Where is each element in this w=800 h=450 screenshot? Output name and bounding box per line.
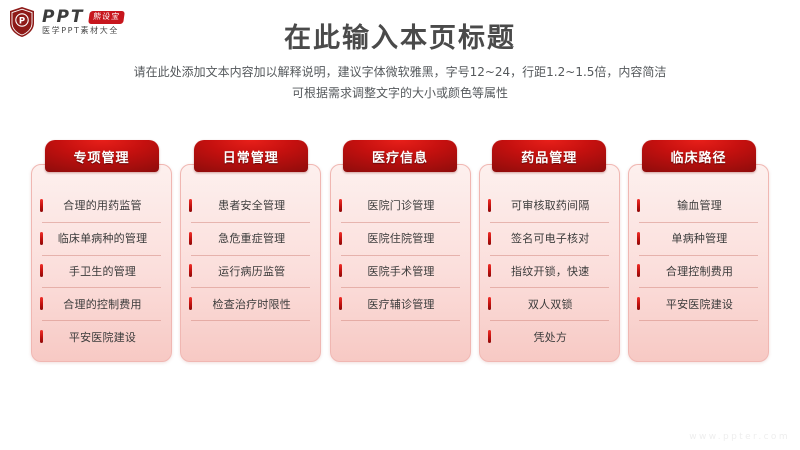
list-item[interactable]: 合理的控制费用 xyxy=(38,287,165,320)
bullet-icon xyxy=(488,330,491,343)
card-body: 医院门诊管理 医院住院管理 医院手术管理 医疗辅诊管理 xyxy=(330,164,471,362)
card-body: 输血管理 单病种管理 合理控制费用 平安医院建设 xyxy=(628,164,769,362)
list-item-label: 双人双锁 xyxy=(497,296,604,312)
list-item[interactable]: 检查治疗时限性 xyxy=(187,287,314,320)
list-item[interactable]: 急危重症管理 xyxy=(187,222,314,255)
card-body: 合理的用药监管 临床单病种的管理 手卫生的管理 合理的控制费用 平安医院建设 xyxy=(31,164,172,362)
list-item-label: 手卫生的管理 xyxy=(49,263,156,279)
card-linchuang-lujing[interactable]: 临床路径 输血管理 单病种管理 合理控制费用 平安医院建设 xyxy=(627,140,770,362)
card-body: 可审核取药间隔 签名可电子核对 指纹开锁，快速 双人双锁 凭处方 xyxy=(479,164,620,362)
list-item-label: 医院手术管理 xyxy=(348,263,455,279)
bullet-icon xyxy=(488,232,491,245)
list-item-label: 合理控制费用 xyxy=(646,263,753,279)
list-item-label: 医院门诊管理 xyxy=(348,197,455,213)
list-item-empty xyxy=(187,320,314,353)
bullet-icon xyxy=(488,264,491,277)
bullet-icon xyxy=(339,199,342,212)
list-item-label: 患者安全管理 xyxy=(198,197,305,213)
list-item[interactable]: 手卫生的管理 xyxy=(38,255,165,288)
bullet-icon xyxy=(40,330,43,343)
subtitle-line-1: 请在此处添加文本内容加以解释说明，建议字体微软雅黑，字号12~24，行距1.2~… xyxy=(0,62,800,83)
list-item[interactable]: 医疗辅诊管理 xyxy=(337,287,464,320)
list-item[interactable]: 双人双锁 xyxy=(486,287,613,320)
bullet-icon xyxy=(40,297,43,310)
bullet-icon xyxy=(339,232,342,245)
list-item-label: 合理的用药监管 xyxy=(49,197,156,213)
list-item-label: 签名可电子核对 xyxy=(497,230,604,246)
list-item-label: 急危重症管理 xyxy=(198,230,305,246)
bullet-icon xyxy=(40,199,43,212)
subtitle-line-2: 可根据需求调整文字的大小或颜色等属性 xyxy=(0,83,800,104)
bullet-icon xyxy=(189,199,192,212)
site-watermark: www.ppter.com xyxy=(689,432,790,442)
bullet-icon xyxy=(637,199,640,212)
list-item[interactable]: 平安医院建设 xyxy=(635,287,762,320)
card-zhuanxiang-guanli[interactable]: 专项管理 合理的用药监管 临床单病种的管理 手卫生的管理 合理的控制费用 平安医… xyxy=(30,140,173,362)
list-item[interactable]: 合理控制费用 xyxy=(635,255,762,288)
bullet-icon xyxy=(637,264,640,277)
bullet-icon xyxy=(339,297,342,310)
card-header[interactable]: 专项管理 xyxy=(45,140,159,172)
bullet-icon xyxy=(488,297,491,310)
card-yiliao-xinxi[interactable]: 医疗信息 医院门诊管理 医院住院管理 医院手术管理 医疗辅诊管理 xyxy=(329,140,472,362)
list-item[interactable]: 患者安全管理 xyxy=(187,189,314,222)
bullet-icon xyxy=(637,297,640,310)
card-yaopin-guanli[interactable]: 药品管理 可审核取药间隔 签名可电子核对 指纹开锁，快速 双人双锁 凭处方 xyxy=(478,140,621,362)
list-item-label: 单病种管理 xyxy=(646,230,753,246)
bullet-icon xyxy=(189,297,192,310)
page-subtitle: 请在此处添加文本内容加以解释说明，建议字体微软雅黑，字号12~24，行距1.2~… xyxy=(0,62,800,104)
list-item-label: 运行病历监管 xyxy=(198,263,305,279)
bullet-icon xyxy=(488,199,491,212)
list-item-empty xyxy=(337,320,464,353)
list-item[interactable]: 运行病历监管 xyxy=(187,255,314,288)
list-item[interactable]: 医院手术管理 xyxy=(337,255,464,288)
page-title: 在此输入本页标题 xyxy=(0,16,800,55)
list-item-label: 合理的控制费用 xyxy=(49,296,156,312)
bullet-icon xyxy=(339,264,342,277)
list-item[interactable]: 医院住院管理 xyxy=(337,222,464,255)
list-item-label: 凭处方 xyxy=(497,329,604,345)
list-item-label: 输血管理 xyxy=(646,197,753,213)
list-item[interactable]: 合理的用药监管 xyxy=(38,189,165,222)
bullet-icon xyxy=(637,232,640,245)
list-item[interactable]: 临床单病种的管理 xyxy=(38,222,165,255)
list-item[interactable]: 凭处方 xyxy=(486,320,613,353)
card-header[interactable]: 医疗信息 xyxy=(343,140,457,172)
bullet-icon xyxy=(189,264,192,277)
list-item[interactable]: 单病种管理 xyxy=(635,222,762,255)
list-item-label: 平安医院建设 xyxy=(646,296,753,312)
bullet-icon xyxy=(40,232,43,245)
list-item-label: 医院住院管理 xyxy=(348,230,455,246)
list-item[interactable]: 指纹开锁，快速 xyxy=(486,255,613,288)
list-item[interactable]: 签名可电子核对 xyxy=(486,222,613,255)
list-item-label: 临床单病种的管理 xyxy=(49,230,156,246)
list-item-label: 检查治疗时限性 xyxy=(198,296,305,312)
list-item-label: 指纹开锁，快速 xyxy=(497,263,604,279)
card-header[interactable]: 药品管理 xyxy=(492,140,606,172)
card-richang-guanli[interactable]: 日常管理 患者安全管理 急危重症管理 运行病历监管 检查治疗时限性 xyxy=(179,140,322,362)
bullet-icon xyxy=(189,232,192,245)
bullet-icon xyxy=(40,264,43,277)
card-header[interactable]: 临床路径 xyxy=(642,140,756,172)
list-item-label: 医疗辅诊管理 xyxy=(348,296,455,312)
card-body: 患者安全管理 急危重症管理 运行病历监管 检查治疗时限性 xyxy=(180,164,321,362)
list-item[interactable]: 医院门诊管理 xyxy=(337,189,464,222)
list-item[interactable]: 可审核取药间隔 xyxy=(486,189,613,222)
list-item[interactable]: 输血管理 xyxy=(635,189,762,222)
card-grid: 专项管理 合理的用药监管 临床单病种的管理 手卫生的管理 合理的控制费用 平安医… xyxy=(30,140,770,362)
list-item-label: 可审核取药间隔 xyxy=(497,197,604,213)
card-header[interactable]: 日常管理 xyxy=(194,140,308,172)
list-item[interactable]: 平安医院建设 xyxy=(38,320,165,353)
list-item-empty xyxy=(635,320,762,353)
list-item-label: 平安医院建设 xyxy=(49,329,156,345)
